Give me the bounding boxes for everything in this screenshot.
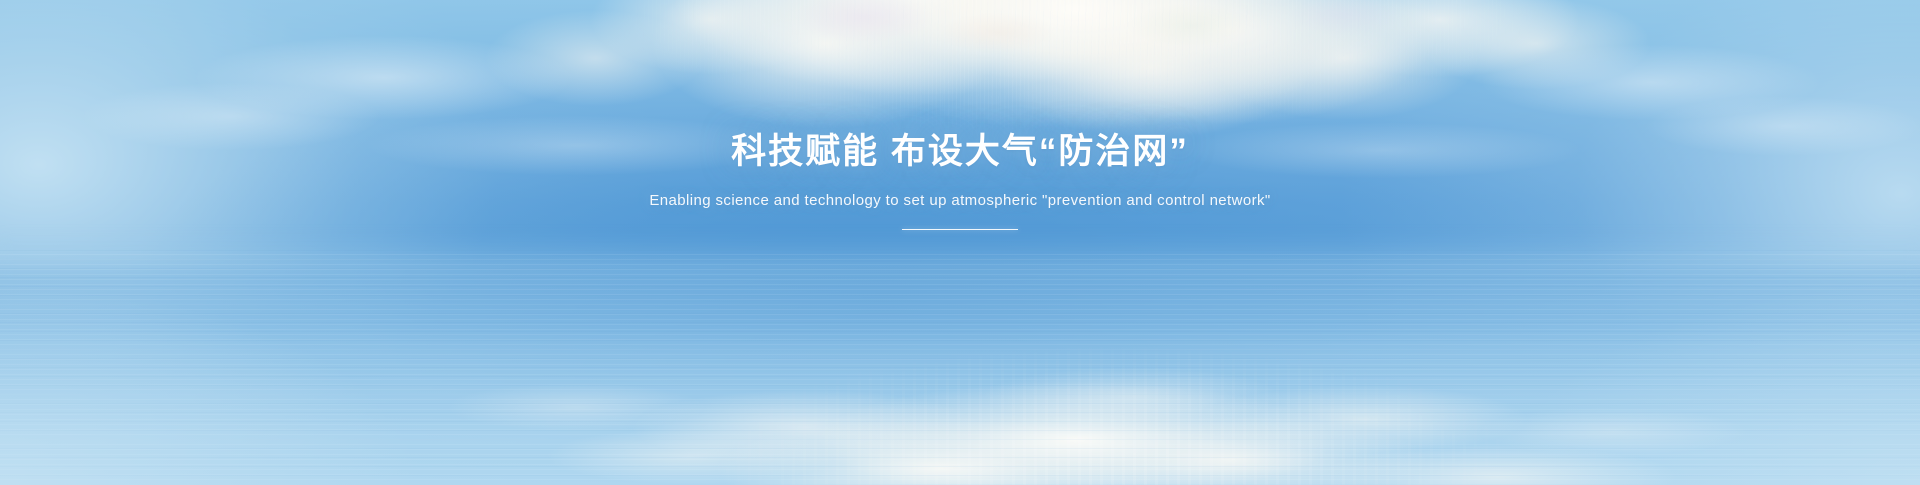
banner-headline: 科技赋能 布设大气“防治网”	[731, 132, 1189, 172]
banner-subheadline: Enabling science and technology to set u…	[649, 192, 1270, 209]
banner-divider	[902, 229, 1018, 230]
hero-banner: 科技赋能 布设大气“防治网” Enabling science and tech…	[0, 0, 1920, 485]
banner-content: 科技赋能 布设大气“防治网” Enabling science and tech…	[0, 0, 1920, 485]
